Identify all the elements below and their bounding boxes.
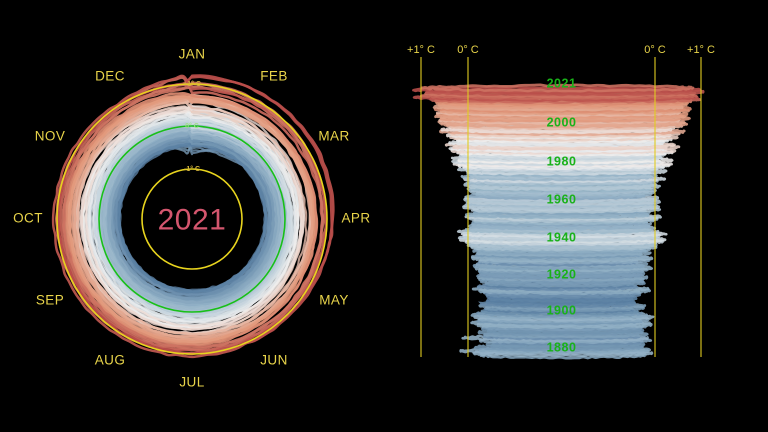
month-label-feb: FEB xyxy=(260,69,287,84)
decade-label-1900: 1900 xyxy=(547,303,577,317)
ring-label-zero: 0° C xyxy=(185,122,199,130)
center-year-label: 2021 xyxy=(158,204,227,237)
decade-label-1940: 1940 xyxy=(547,230,577,244)
axis-label-2: 0° C xyxy=(644,44,666,56)
month-label-mar: MAR xyxy=(318,129,349,144)
climate-spiral-visualization: -1° C0° C+1° C JANFEBMARAPRMAYJUNJULAUGS… xyxy=(0,0,768,432)
decade-label-2000: 2000 xyxy=(547,115,577,129)
decade-label-1880: 1880 xyxy=(547,340,577,354)
axis-label-0: +1° C xyxy=(407,44,435,56)
month-label-nov: NOV xyxy=(35,129,65,144)
decade-label-1980: 1980 xyxy=(547,154,577,168)
visualization-canvas: -1° C0° C+1° C JANFEBMARAPRMAYJUNJULAUGS… xyxy=(0,0,768,432)
month-label-apr: APR xyxy=(342,211,371,226)
month-label-jul: JUL xyxy=(179,375,204,390)
ring-label-minus1: -1° C xyxy=(184,165,200,173)
decade-label-2021: 2021 xyxy=(547,76,577,90)
month-label-sep: SEP xyxy=(36,293,64,308)
month-label-jan: JAN xyxy=(179,47,206,62)
decade-label-1960: 1960 xyxy=(547,192,577,206)
axis-label-1: 0° C xyxy=(457,44,479,56)
month-label-jun: JUN xyxy=(260,353,287,368)
month-label-aug: AUG xyxy=(95,353,125,368)
month-label-may: MAY xyxy=(319,293,348,308)
month-label-oct: OCT xyxy=(13,211,43,226)
month-label-dec: DEC xyxy=(95,69,125,84)
decade-label-1920: 1920 xyxy=(547,267,577,281)
ring-label-plus1: +1° C xyxy=(183,80,201,88)
axis-label-3: +1° C xyxy=(687,44,715,56)
